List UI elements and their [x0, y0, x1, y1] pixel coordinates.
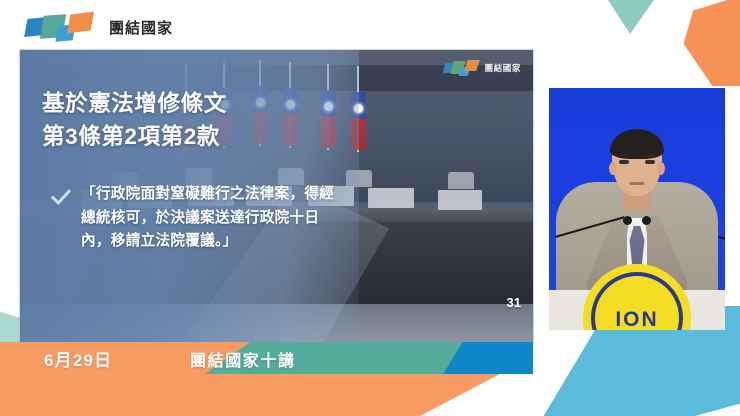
orange-polygon-decoration [672, 0, 740, 86]
slide-title-line-1: 基於憲法增修條文 [42, 88, 352, 119]
slide-bullet: 「行政院面對窒礙難行之法律案，得經總統核可，於決議案送達行政院十日內，移請立法院… [50, 183, 340, 254]
slide-page-number: 31 [507, 295, 521, 310]
speaker-eye-left [619, 160, 629, 164]
slide-title-line-2: 第3條第2項第2款 [42, 121, 352, 152]
presentation-slide: 團結國家 基於憲法增修條文 第3條第2項第2款 「行政院面對窒礙難行之法律案，得… [20, 50, 533, 342]
slide-watermark-logo: 團結國家 [444, 60, 521, 76]
brand-header: 團結國家 [26, 12, 173, 42]
date-bar-lower-band [0, 374, 500, 416]
brand-name: 團結國家 [109, 17, 173, 38]
speaker-eyebrow-left [618, 154, 631, 157]
slide-body-text: 「行政院面對窒礙難行之法律案，得經總統核可，於決議案送達行政院十日內，移請立法院… [81, 183, 340, 254]
speaker-mouth [630, 182, 645, 185]
speaker-video-panel: ION [549, 88, 725, 330]
slide-title: 基於憲法增修條文 第3條第2項第2款 [42, 88, 352, 152]
teal-triangle-decoration [608, 0, 654, 34]
brand-logo-icon [26, 12, 100, 42]
podium-emblem-text: ION [615, 308, 658, 330]
speaker-eyebrow-right [643, 154, 656, 157]
microphone-head-left [623, 216, 632, 225]
speaker-ear-right [657, 162, 665, 175]
series-label: 團結國家十講 [190, 347, 296, 371]
watermark-text: 團結國家 [485, 62, 521, 74]
microphone-head-right [642, 216, 651, 225]
speaker-ear-left [609, 162, 617, 175]
speaker-eye-right [645, 160, 655, 164]
screenshot-root: 團結國家 [0, 0, 740, 416]
watermark-logo-icon [444, 60, 480, 76]
check-icon [50, 186, 72, 208]
date-label: 6月29日 [44, 346, 112, 371]
